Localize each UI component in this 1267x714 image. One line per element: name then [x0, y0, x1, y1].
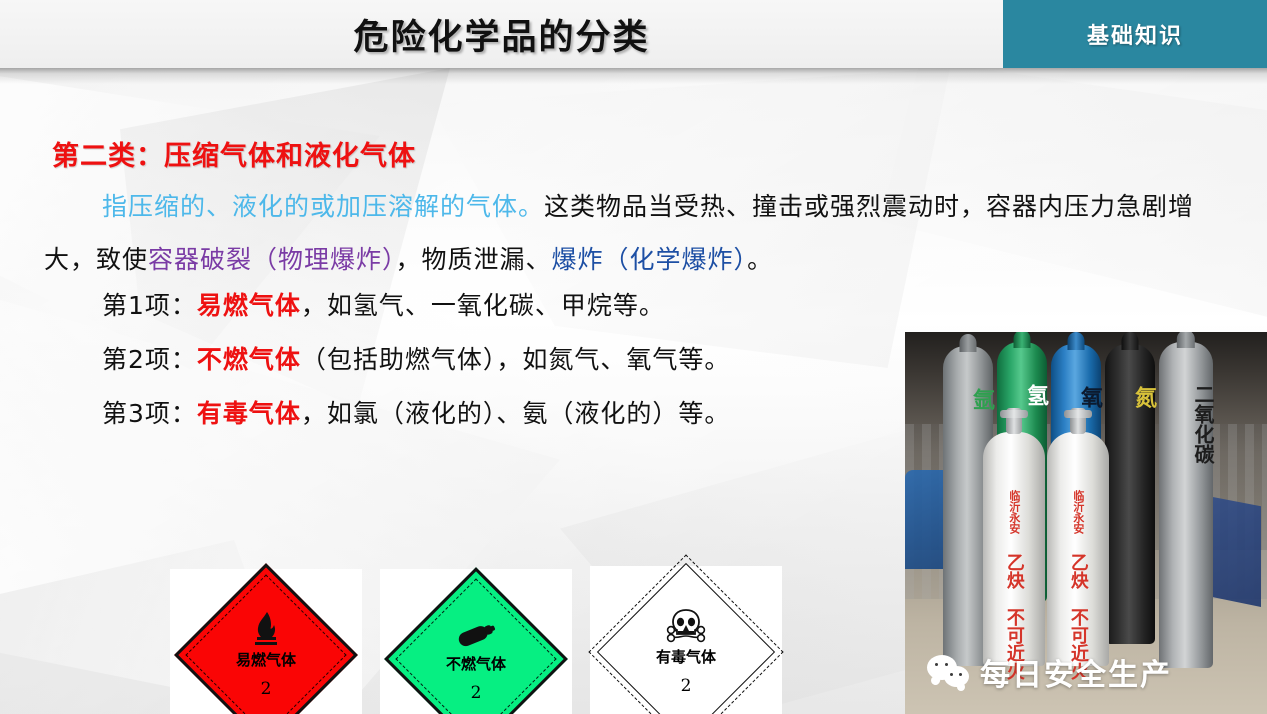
cylinder-label: 氢: [997, 384, 1047, 406]
paragraph-black-segment-3: 。: [747, 245, 773, 274]
slide-canvas: 危险化学品的分类 基础知识 第二类：压缩气体和液化气体 指压缩的、液化的或加压溶…: [0, 0, 1267, 714]
gas-cylinder-photo: 氩 氢 氧 氮 二氧化碳 临沂永安 乙炔 不可近火: [905, 332, 1267, 714]
item-prefix: 第1项：: [102, 291, 197, 320]
paragraph-black-segment-2: ，物质泄漏、: [396, 245, 552, 274]
watermark-text: 每日安全生产: [980, 650, 1172, 694]
cylinder-label: 氮: [1105, 386, 1155, 408]
diamond-shape-red: 易燃气体 2: [174, 563, 358, 714]
placard-toxic-gas: 有毒气体 2: [590, 566, 782, 714]
photo-cylinder-nitrogen: 氮: [1105, 344, 1155, 644]
placard-label: 易燃气体: [236, 653, 296, 668]
section-heading: 第二类：压缩气体和液化气体: [52, 134, 416, 173]
placard-diamond-wrap: 有毒气体 2: [590, 566, 782, 714]
photo-cylinder-carbon-dioxide: 二氧化碳: [1159, 342, 1213, 668]
cylinder-label: 氩: [943, 388, 993, 410]
diamond-content: 易燃气体 2: [204, 593, 328, 714]
cylinder-cap: [960, 334, 977, 352]
photo-cylinder-acetylene: 临沂永安 乙炔 不可近火: [1047, 432, 1109, 666]
cylinder-cap: [1122, 332, 1139, 350]
diamond-content: 不燃气体 2: [414, 597, 538, 714]
placard-label: 有毒气体: [656, 650, 716, 665]
page-title: 危险化学品的分类: [0, 0, 1003, 68]
flame-icon: [246, 609, 286, 649]
cylinder-cap: [1068, 332, 1085, 350]
cylinder-label: 二氧化碳: [1159, 384, 1213, 464]
diamond-shape-white: 有毒气体 2: [597, 563, 775, 714]
item-rest: ，如氯（液化的）、氨（液化的）等。: [301, 399, 731, 428]
placard-class-number: 2: [681, 678, 692, 695]
cylinder-cap: [1177, 332, 1195, 348]
acetylene-brand: 临沂永安: [1008, 490, 1021, 534]
cylinder-cap: [1014, 332, 1031, 348]
placard-non-flammable-gas: 不燃气体 2: [380, 569, 572, 714]
item-rest: （包括助燃气体），如氮气、氧气等。: [301, 345, 731, 374]
section-badge: 基础知识: [1003, 0, 1267, 68]
item-rest: ，如氢气、一氧化碳、甲烷等。: [301, 291, 665, 320]
list-item: 第2项：不燃气体（包括助燃气体），如氮气、氧气等。: [102, 340, 730, 376]
cylinder-label: 氧: [1051, 386, 1101, 408]
hazard-placard-group: 易燃气体 2: [170, 484, 790, 664]
watermark: 每日安全生产: [927, 650, 1172, 694]
gas-cylinder-icon: [452, 613, 500, 653]
placard-class-number: 2: [261, 681, 272, 698]
cylinder-valve: [1070, 408, 1086, 434]
placard-flammable-gas: 易燃气体 2: [170, 569, 362, 714]
paragraph-purple-segment: 容器破裂（物理爆炸）: [148, 245, 396, 274]
acetylene-brand: 临沂永安: [1072, 490, 1085, 534]
placard-diamond-wrap: 不燃气体 2: [380, 569, 572, 714]
item-keyword: 不燃气体: [197, 345, 301, 374]
slide-header: 危险化学品的分类 基础知识: [0, 0, 1267, 68]
placard-diamond-wrap: 易燃气体 2: [170, 569, 362, 714]
wechat-icon: [927, 655, 971, 689]
wechat-bubble-small: [944, 666, 969, 687]
item-prefix: 第3项：: [102, 399, 197, 428]
list-item: 第1项：易燃气体，如氢气、一氧化碳、甲烷等。: [102, 286, 665, 322]
header-shadow: [0, 68, 1267, 84]
item-keyword: 有毒气体: [197, 399, 301, 428]
item-prefix: 第2项：: [102, 345, 197, 374]
cylinder-valve: [1006, 408, 1022, 434]
acetylene-name: 乙炔: [1068, 553, 1089, 589]
intro-paragraph: 指压缩的、液化的或加压溶解的气体。这类物品当受热、撞击或强烈震动时，容器内压力急…: [44, 180, 1234, 286]
item-keyword: 易燃气体: [197, 291, 301, 320]
list-item: 第3项：有毒气体，如氯（液化的）、氨（液化的）等。: [102, 394, 730, 430]
paragraph-blue-segment: 爆炸（化学爆炸）: [552, 245, 748, 274]
diamond-shape-green: 不燃气体 2: [384, 567, 568, 714]
skull-crossbones-icon: [664, 606, 708, 646]
diamond-content: 有毒气体 2: [624, 590, 748, 714]
placard-label: 不燃气体: [446, 657, 506, 672]
acetylene-name: 乙炔: [1004, 553, 1025, 589]
placard-class-number: 2: [471, 685, 482, 702]
photo-cylinder-acetylene: 临沂永安 乙炔 不可近火: [983, 432, 1045, 666]
paragraph-cyan-segment: 指压缩的、液化的或加压溶解的气体。: [102, 192, 544, 221]
